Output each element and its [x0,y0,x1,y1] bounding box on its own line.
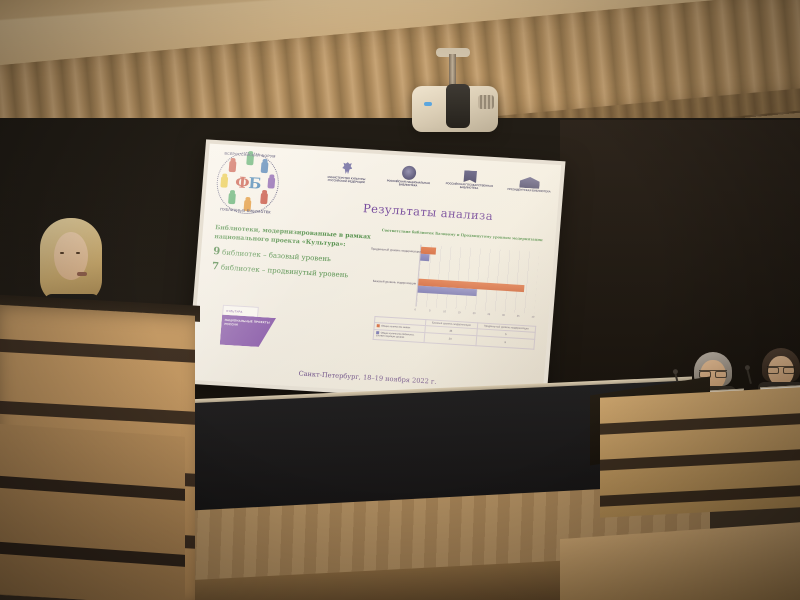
forum-logo: ВСЕРОССИЙСКИЙ ФОРУМ ПУБЛИЧНЫХ БИБЛИОТЕК … [214,150,281,216]
building-icon [519,176,540,189]
stat-text: библиотек – базовый уровень [222,248,331,263]
eye-icon [76,252,80,254]
bookmark-icon [463,170,477,183]
glasses-icon [767,366,795,372]
double-eagle-icon [340,161,354,177]
forum-logo-bottom-text: ПУБЛИЧНЫХ БИБЛИОТЕК [220,207,271,214]
legend-label: Общее количество заявок [381,325,410,330]
podium-slat [0,338,195,362]
chart-bar-advanced-libraries [420,254,429,262]
logo-caption: РОССИЙСКАЯ НАЦИОНАЛЬНАЯ БИБЛИОТЕКА [383,179,433,188]
slide-body-text: Библиотеки, модернизированные в рамках н… [212,224,376,281]
table-slat [600,484,800,507]
analysis-bar-chart: Соответствие библиотек Базовому и Продви… [373,228,544,348]
stat-text: библиотек – продвинутый уровень [221,263,349,279]
presentation-slide: ВСЕРОССИЙСКИЙ ФОРУМ ПУБЛИЧНЫХ БИБЛИОТЕК … [191,144,561,402]
chart-data-table: Базовый уровень модернизации Продвинутый… [373,316,537,350]
podium-slat [0,400,195,424]
x-tick: 15 [458,311,461,314]
glasses-icon [699,370,727,376]
podium-lower-panel [0,423,185,600]
x-tick: 30 [502,314,505,317]
projection-screen: ВСЕРОССИЙСКИЙ ФОРУМ ПУБЛИЧНЫХ БИБЛИОТЕК … [186,139,565,405]
x-tick: 25 [487,313,490,316]
projector-vent-icon [478,95,494,109]
presidential-library-logo: ПРЕЗИДЕНТСКАЯ БИБЛИОТЕКА [505,175,554,194]
x-tick: 10 [443,310,446,313]
russian-state-library-logo: РОССИЙСКАЯ ГОСУДАРСТВЕННАЯ БИБЛИОТЕКА [443,169,496,191]
x-tick: 5 [429,309,431,312]
forum-logo-monogram: ФБ [235,173,261,192]
chart-title: Соответствие библиотек Базовому и Продви… [381,228,543,243]
podium-slat [0,475,185,501]
table-cell: 20 [424,333,476,346]
ministry-of-culture-logo: МИНИСТЕРСТВО КУЛЬТУРЫ РОССИЙСКОЙ ФЕДЕРАЦ… [319,159,375,184]
stat-number: 9 [213,246,221,257]
chart-category-label: Продвинутый уровень модернизации [371,247,421,254]
auditorium-scene: ВСЕРОССИЙСКИЙ ФОРУМ ПУБЛИЧНЫХ БИБЛИОТЕК … [0,0,800,600]
eye-icon [60,252,64,254]
x-tick: 0 [414,308,416,311]
x-tick: 20 [473,312,476,315]
table-slat [600,448,800,471]
screen-surface: ВСЕРОССИЙСКИЙ ФОРУМ ПУБЛИЧНЫХ БИБЛИОТЕК … [191,144,561,402]
x-tick: 40 [531,316,534,319]
logo-caption: РОССИЙСКАЯ ГОСУДАРСТВЕННАЯ БИБЛИОТЕКА [443,182,495,191]
chart-plot-area: Продвинутый уровень модернизации Базовый… [415,245,539,314]
np-logo-body-text: НАЦИОНАЛЬНЫЕ ПРОЕКТЫ РОССИИ [221,315,276,330]
x-tick: 35 [517,315,520,318]
np-logo-body: НАЦИОНАЛЬНЫЕ ПРОЕКТЫ РОССИИ [220,315,276,348]
projector-status-led-icon [424,102,432,106]
np-logo-top-text: КУЛЬТУРА [223,306,257,315]
logo-caption: МИНИСТЕРСТВО КУЛЬТУРЫ РОССИЙСКОЙ ФЕДЕРАЦ… [319,175,373,184]
podium-slat [0,541,185,567]
projector-lens-housing [446,84,470,128]
speaker-face [54,232,88,280]
legend-swatch-orange [377,324,380,327]
legend-label: Общее количество библиотек, соответствую… [376,332,415,339]
table-row-label: Общее количество библиотек, соответствую… [373,329,425,342]
panel-table [600,386,800,518]
table-slat [600,412,800,435]
forum-logo-top-text: ВСЕРОССИЙСКИЙ ФОРУМ [224,152,275,159]
national-projects-logo: КУЛЬТУРА НАЦИОНАЛЬНЫЕ ПРОЕКТЫ РОССИИ [220,305,277,348]
monogram-b: Б [248,174,261,193]
seal-icon [402,165,417,180]
chart-category-label: Базовый уровень модернизации [368,279,418,286]
logo-caption: ПРЕЗИДЕНТСКАЯ БИБЛИОТЕКА [505,188,553,194]
russian-national-library-logo: РОССИЙСКАЯ НАЦИОНАЛЬНАЯ БИБЛИОТЕКА [383,164,435,188]
stat-number: 7 [212,261,220,272]
mouth-icon [77,272,87,276]
